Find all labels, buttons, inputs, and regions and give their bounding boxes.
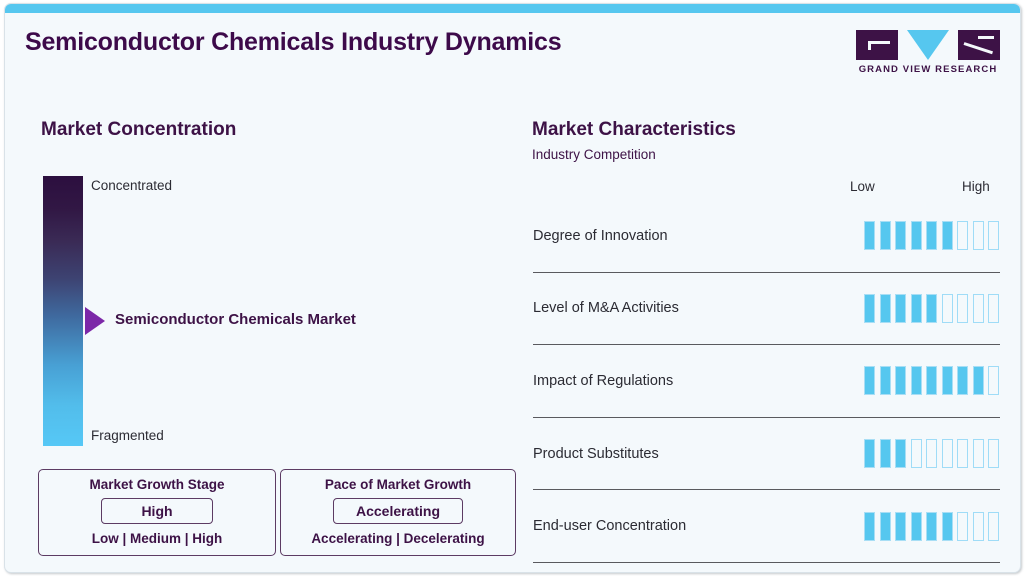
- rating-tick-filled: [895, 221, 906, 250]
- market-position-arrow-icon: [85, 307, 105, 335]
- pace-of-market-growth-value: Accelerating: [333, 498, 463, 524]
- concentration-gradient-bar: [43, 176, 83, 446]
- logo-letter-g-icon: [856, 30, 898, 60]
- characteristic-label: End-user Concentration: [533, 518, 686, 534]
- rating-tick-filled: [880, 512, 891, 541]
- rating-tick-empty: [988, 512, 999, 541]
- rating-tick-filled: [942, 366, 953, 395]
- rating-tick-empty: [957, 439, 968, 468]
- pace-of-market-growth-scale: Accelerating | Decelerating: [281, 531, 515, 546]
- characteristic-row: End-user Concentration: [533, 490, 1000, 563]
- top-accent-bar: [5, 4, 1020, 13]
- rating-tick-empty: [957, 512, 968, 541]
- rating-tick-filled: [926, 294, 937, 323]
- rating-tick-filled: [880, 294, 891, 323]
- infographic-canvas: Semiconductor Chemicals Industry Dynamic…: [0, 0, 1025, 576]
- characteristic-rating: [864, 221, 999, 250]
- rating-tick-filled: [911, 366, 922, 395]
- characteristic-row: Level of M&A Activities: [533, 273, 1000, 346]
- rating-tick-empty: [942, 439, 953, 468]
- rating-tick-empty: [957, 221, 968, 250]
- market-characteristics-heading: Market Characteristics: [532, 119, 736, 141]
- rating-tick-filled: [973, 366, 984, 395]
- rating-tick-filled: [911, 294, 922, 323]
- rating-tick-filled: [864, 512, 875, 541]
- market-position-label: Semiconductor Chemicals Market: [115, 311, 356, 328]
- characteristic-label: Impact of Regulations: [533, 373, 673, 389]
- logo-marks: [854, 30, 1002, 60]
- rating-tick-empty: [988, 221, 999, 250]
- characteristic-row: Impact of Regulations: [533, 345, 1000, 418]
- rating-tick-empty: [973, 512, 984, 541]
- page-title: Semiconductor Chemicals Industry Dynamic…: [25, 28, 561, 57]
- concentration-top-label: Concentrated: [91, 178, 172, 193]
- logo-letter-v-icon: [907, 30, 949, 60]
- rating-tick-empty: [973, 294, 984, 323]
- rating-tick-empty: [911, 439, 922, 468]
- characteristic-label: Degree of Innovation: [533, 228, 668, 244]
- rating-tick-empty: [988, 294, 999, 323]
- rating-tick-filled: [880, 366, 891, 395]
- rating-tick-filled: [926, 221, 937, 250]
- rating-tick-empty: [988, 366, 999, 395]
- rating-tick-empty: [973, 439, 984, 468]
- market-growth-stage-box: Market Growth Stage High Low | Medium | …: [38, 469, 276, 556]
- rating-tick-empty: [988, 439, 999, 468]
- market-growth-stage-scale: Low | Medium | High: [39, 531, 275, 546]
- logo-letter-r-icon: [958, 30, 1000, 60]
- infographic-card: Semiconductor Chemicals Industry Dynamic…: [4, 3, 1021, 573]
- concentration-bottom-label: Fragmented: [91, 428, 164, 443]
- rating-tick-filled: [895, 512, 906, 541]
- characteristic-rating: [864, 294, 999, 323]
- rating-tick-filled: [911, 221, 922, 250]
- rating-tick-filled: [864, 294, 875, 323]
- pace-of-market-growth-box: Pace of Market Growth Accelerating Accel…: [280, 469, 516, 556]
- rating-tick-filled: [926, 366, 937, 395]
- rating-tick-filled: [880, 221, 891, 250]
- grand-view-research-logo: GRAND VIEW RESEARCH: [854, 30, 1002, 78]
- rating-tick-filled: [895, 366, 906, 395]
- logo-wordmark: GRAND VIEW RESEARCH: [854, 64, 1002, 75]
- rating-tick-filled: [942, 221, 953, 250]
- characteristic-rating: [864, 439, 999, 468]
- characteristic-rating: [864, 512, 999, 541]
- rating-tick-filled: [926, 512, 937, 541]
- rating-tick-empty: [942, 294, 953, 323]
- market-concentration-heading: Market Concentration: [41, 119, 236, 141]
- rating-tick-empty: [926, 439, 937, 468]
- characteristic-row: Product Substitutes: [533, 418, 1000, 491]
- rating-tick-filled: [895, 294, 906, 323]
- rating-tick-filled: [864, 366, 875, 395]
- market-characteristics-table: Degree of InnovationLevel of M&A Activit…: [533, 200, 1000, 563]
- market-growth-stage-value: High: [101, 498, 213, 524]
- rating-tick-filled: [942, 512, 953, 541]
- scale-low-label: Low: [850, 179, 875, 194]
- rating-tick-empty: [973, 221, 984, 250]
- characteristic-rating: [864, 366, 999, 395]
- rating-tick-filled: [911, 512, 922, 541]
- rating-tick-filled: [880, 439, 891, 468]
- rating-tick-empty: [957, 294, 968, 323]
- market-characteristics-subheading: Industry Competition: [532, 147, 656, 162]
- rating-tick-filled: [957, 366, 968, 395]
- characteristic-label: Level of M&A Activities: [533, 300, 679, 316]
- rating-tick-filled: [895, 439, 906, 468]
- pace-of-market-growth-title: Pace of Market Growth: [281, 477, 515, 492]
- rating-tick-filled: [864, 221, 875, 250]
- characteristic-row: Degree of Innovation: [533, 200, 1000, 273]
- characteristic-label: Product Substitutes: [533, 446, 659, 462]
- market-growth-stage-title: Market Growth Stage: [39, 477, 275, 492]
- scale-high-label: High: [962, 179, 990, 194]
- rating-tick-filled: [864, 439, 875, 468]
